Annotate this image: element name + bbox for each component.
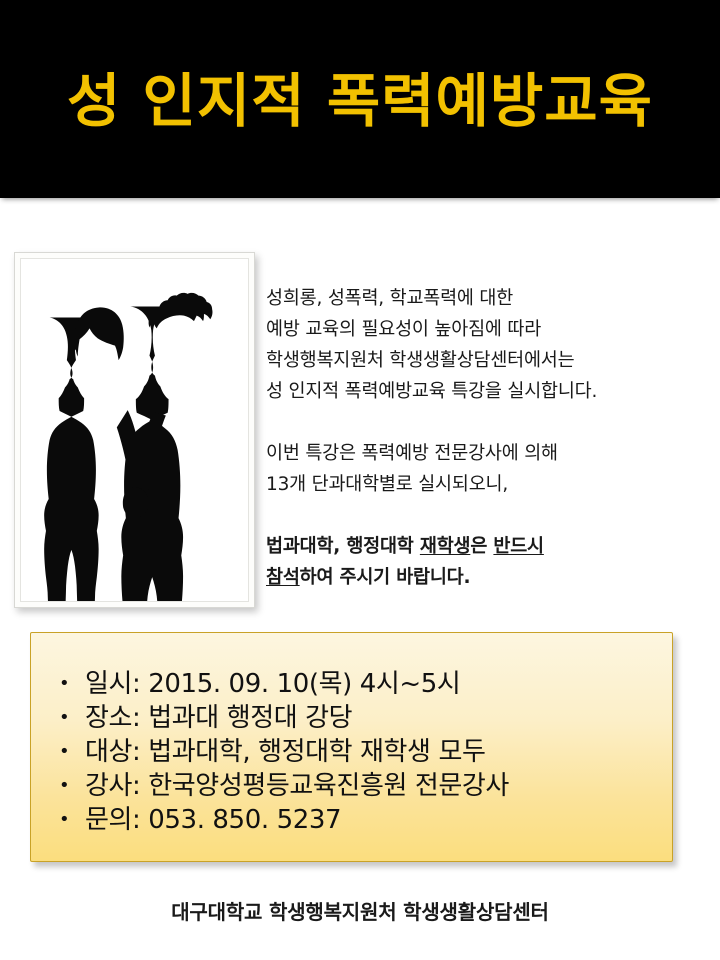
bullet-icon: •	[59, 769, 69, 803]
para3-line1: 법과대학, 행정대학 재학생은 반드시	[266, 531, 714, 562]
organizer-footer: 대구대학교 학생행복지원처 학생생활상담센터	[0, 896, 720, 925]
bullet-icon: •	[59, 803, 69, 837]
list-item-label: 강사: 한국양성평등교육진흥원 전문강사	[85, 771, 509, 801]
page-title: 성 인지적 폭력예방교육	[67, 70, 653, 134]
list-item-label: 장소: 법과대 행정대 강당	[85, 703, 352, 733]
para3-text-3: 하여 주시기 바랍니다.	[300, 567, 471, 588]
list-item: • 문의: 053. 850. 5237	[45, 803, 672, 837]
para2-line1: 이번 특강은 폭력예방 전문강사에 의해	[266, 438, 714, 469]
details-list: • 일시: 2015. 09. 10(목) 4시~5시 • 장소: 법과대 행정…	[45, 667, 672, 837]
para1-line2: 예방 교육의 필요성이 높아짐에 따라	[266, 314, 714, 345]
list-item-label: 대상: 법과대학, 행정대학 재학생 모두	[85, 737, 485, 767]
para3-text-1: 법과대학, 행정대학	[266, 536, 420, 557]
para3-underline-2: 반드시	[493, 536, 543, 557]
list-item: • 장소: 법과대 행정대 강당	[45, 701, 672, 735]
list-item-label: 문의: 053. 850. 5237	[85, 805, 341, 835]
para3-line2: 참석하여 주시기 바랍니다.	[266, 562, 714, 593]
para2-line2: 13개 단과대학별로 실시되오니,	[266, 469, 714, 500]
bullet-icon: •	[59, 735, 69, 769]
details-box: • 일시: 2015. 09. 10(목) 4시~5시 • 장소: 법과대 행정…	[30, 632, 673, 862]
photo-inner	[20, 258, 249, 602]
list-item-label: 일시: 2015. 09. 10(목) 4시~5시	[85, 669, 460, 699]
photo-frame	[14, 252, 255, 608]
para3-underline-3: 참석	[266, 567, 300, 588]
paragraph-spacer	[266, 407, 714, 438]
para1-line1: 성희롱, 성폭력, 학교폭력에 대한	[266, 283, 714, 314]
list-item: • 일시: 2015. 09. 10(목) 4시~5시	[45, 667, 672, 701]
header-band: 성 인지적 폭력예방교육	[0, 0, 720, 198]
couple-silhouette-icon	[26, 269, 244, 601]
bullet-icon: •	[59, 701, 69, 735]
para1-line3: 학생행복지원처 학생생활상담센터에서는	[266, 345, 714, 376]
list-item: • 강사: 한국양성평등교육진흥원 전문강사	[45, 769, 672, 803]
list-item: • 대상: 법과대학, 행정대학 재학생 모두	[45, 735, 672, 769]
para1-line4: 성 인지적 폭력예방교육 특강을 실시합니다.	[266, 376, 714, 407]
bullet-icon: •	[59, 667, 69, 701]
para3-text-2: 은	[470, 536, 493, 557]
body-copy: 성희롱, 성폭력, 학교폭력에 대한 예방 교육의 필요성이 높아짐에 따라 학…	[266, 283, 714, 593]
paragraph-spacer-2	[266, 500, 714, 531]
para3-underline-1: 재학생	[420, 536, 470, 557]
